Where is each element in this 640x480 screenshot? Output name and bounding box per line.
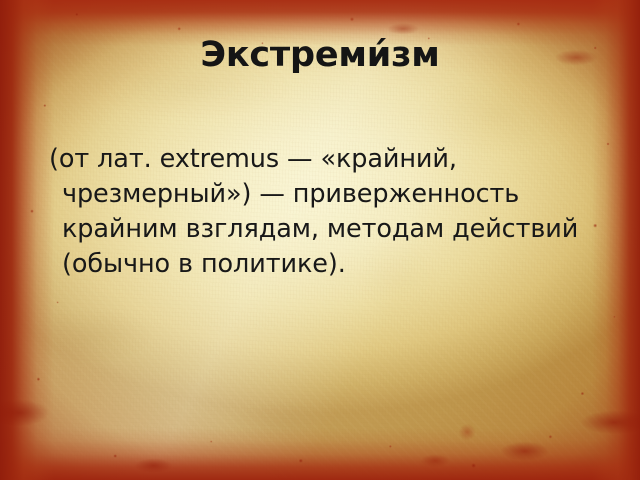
slide-body: (от лат. extremus — «крайний, чрезмерный… xyxy=(42,116,590,307)
definition-paragraph: (от лат. extremus — «крайний, чрезмерный… xyxy=(42,142,590,282)
slide-canvas: Экстреми́зм (от лат. extremus — «крайний… xyxy=(0,0,640,480)
slide-content: Экстреми́зм (от лат. extremus — «крайний… xyxy=(0,0,640,480)
slide-title: Экстреми́зм xyxy=(0,36,640,75)
